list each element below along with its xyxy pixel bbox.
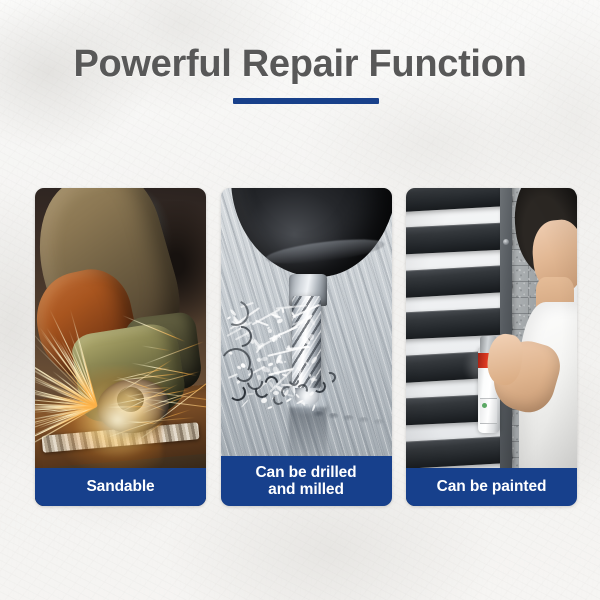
product-feature-poster: Powerful Repair Function: [0, 0, 600, 600]
feature-panel-sandable[interactable]: Sandable: [35, 188, 206, 506]
feature-panel-row: Sandable Can be drille: [35, 188, 577, 506]
page-title: Powerful Repair Function: [0, 44, 600, 84]
panel-caption-sandable: Sandable: [35, 468, 206, 506]
photo-spray-painting-slats: [406, 188, 577, 506]
panel-caption-painted: Can be painted: [406, 468, 577, 506]
title-underline: [233, 98, 379, 104]
photo-angle-grinder-sparks: [35, 188, 206, 506]
feature-panel-painted[interactable]: Can be painted: [406, 188, 577, 506]
panel-caption-drilled-milled: Can be drilled and milled: [221, 456, 392, 506]
spark-streaks: [35, 188, 206, 506]
feature-panel-drilled-milled[interactable]: Can be drilled and milled: [221, 188, 392, 506]
panel-caption-text: Can be painted: [406, 478, 577, 495]
title-block: Powerful Repair Function: [0, 44, 600, 84]
panel-caption-text: Sandable: [35, 478, 206, 495]
panel-caption-text: Can be drilled and milled: [221, 464, 392, 499]
